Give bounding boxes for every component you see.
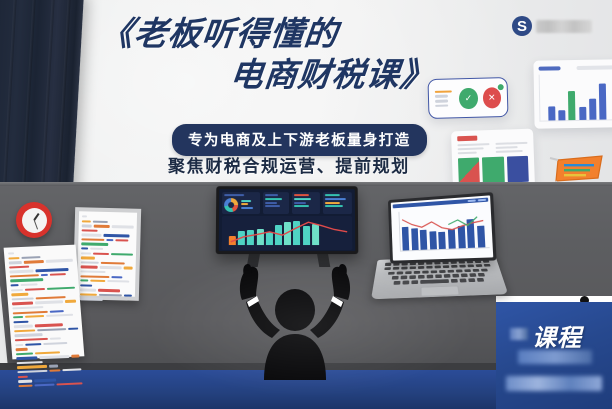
report-row xyxy=(81,243,133,247)
report-row xyxy=(82,229,134,233)
approval-card: ✓ ✕ xyxy=(427,77,508,119)
laptop-screen xyxy=(388,192,497,264)
dashboard-widget-metrics xyxy=(292,192,321,214)
laptop-bar-chart xyxy=(393,204,491,257)
dashboard-widget-status xyxy=(323,192,352,214)
bar-card-bar xyxy=(548,107,555,121)
report-row xyxy=(80,279,132,283)
doc-card-tag xyxy=(457,136,477,142)
bar-card-bar xyxy=(558,110,565,120)
report-row xyxy=(80,289,132,293)
poster-headline: 《老板听得懂的 电商财税课》 xyxy=(96,14,436,96)
dashboard-widget-kpis xyxy=(263,192,289,214)
headline-line-2: 电商财税课》 xyxy=(94,54,438,96)
printed-report-left xyxy=(4,245,85,360)
clock-face xyxy=(22,208,47,233)
bar-card-plot xyxy=(539,73,612,121)
clock-icon xyxy=(16,202,52,238)
bar-card-subtitle-bar xyxy=(577,65,612,70)
reject-cross-icon: ✕ xyxy=(482,87,501,108)
panel-course-label: 课程 xyxy=(532,318,582,353)
report-row xyxy=(81,238,133,242)
brand-logo: S xyxy=(512,16,592,36)
bar-card-bar xyxy=(599,84,607,120)
report-document-card xyxy=(451,129,535,190)
report-row xyxy=(82,224,134,228)
printed-report-right xyxy=(73,207,141,301)
panel-line2-blurred xyxy=(506,376,602,391)
brand-s-icon: S xyxy=(512,16,532,36)
desktop-monitor xyxy=(216,186,359,254)
bar-card-bar xyxy=(579,107,586,120)
donut-chart xyxy=(224,198,238,212)
report-row xyxy=(80,284,132,288)
businessman-silhouette xyxy=(224,262,366,382)
bar-chart-card xyxy=(533,59,612,128)
bar-card-header xyxy=(539,65,612,70)
monitor-bar-chart xyxy=(222,216,353,250)
brand-mark-letter: S xyxy=(517,19,527,34)
report-row xyxy=(80,275,132,279)
report-row xyxy=(82,215,134,219)
poster-canvas: 《老板听得懂的 电商财税课》 专为电商及上下游老板量身打造 聚焦财税合规运营、提… xyxy=(0,0,612,409)
laptop-trackpad[interactable] xyxy=(420,285,460,296)
report-row xyxy=(81,270,133,274)
report-row xyxy=(80,293,132,297)
panel-line1-blurred xyxy=(518,350,592,364)
approval-text-lines xyxy=(435,90,455,107)
laptop-computer xyxy=(378,196,496,316)
doc-card-blocks xyxy=(458,156,529,184)
laptop-display xyxy=(391,195,493,260)
bar-card-title-bar xyxy=(539,66,561,70)
report-row xyxy=(81,261,133,265)
report-row xyxy=(81,247,133,251)
monitor-trend-line xyxy=(222,216,353,250)
left-curtain xyxy=(0,0,84,204)
report-row xyxy=(82,220,134,224)
report-row xyxy=(81,257,133,261)
doc-card-text xyxy=(457,142,527,154)
approve-check-icon: ✓ xyxy=(459,87,478,108)
report-row xyxy=(81,266,133,270)
report-row xyxy=(81,234,133,238)
course-blue-panel: 课程 xyxy=(496,302,612,409)
brand-name-blurred xyxy=(536,20,592,33)
headline-line-1: 《老板听得懂的 xyxy=(94,14,438,54)
dashboard-widget-donut xyxy=(222,192,260,214)
bar-card-bar xyxy=(589,99,596,120)
dashboard-widgets-row xyxy=(222,192,352,214)
panel-prefix-obscured xyxy=(510,328,528,340)
bar-card-bar xyxy=(568,92,575,121)
status-badge xyxy=(497,83,505,91)
poster-subline: 聚焦财税合规运营、提前规划 xyxy=(168,152,410,177)
monitor-screen xyxy=(219,189,356,251)
laptop-trend-line xyxy=(393,204,491,257)
report-row xyxy=(81,252,133,256)
